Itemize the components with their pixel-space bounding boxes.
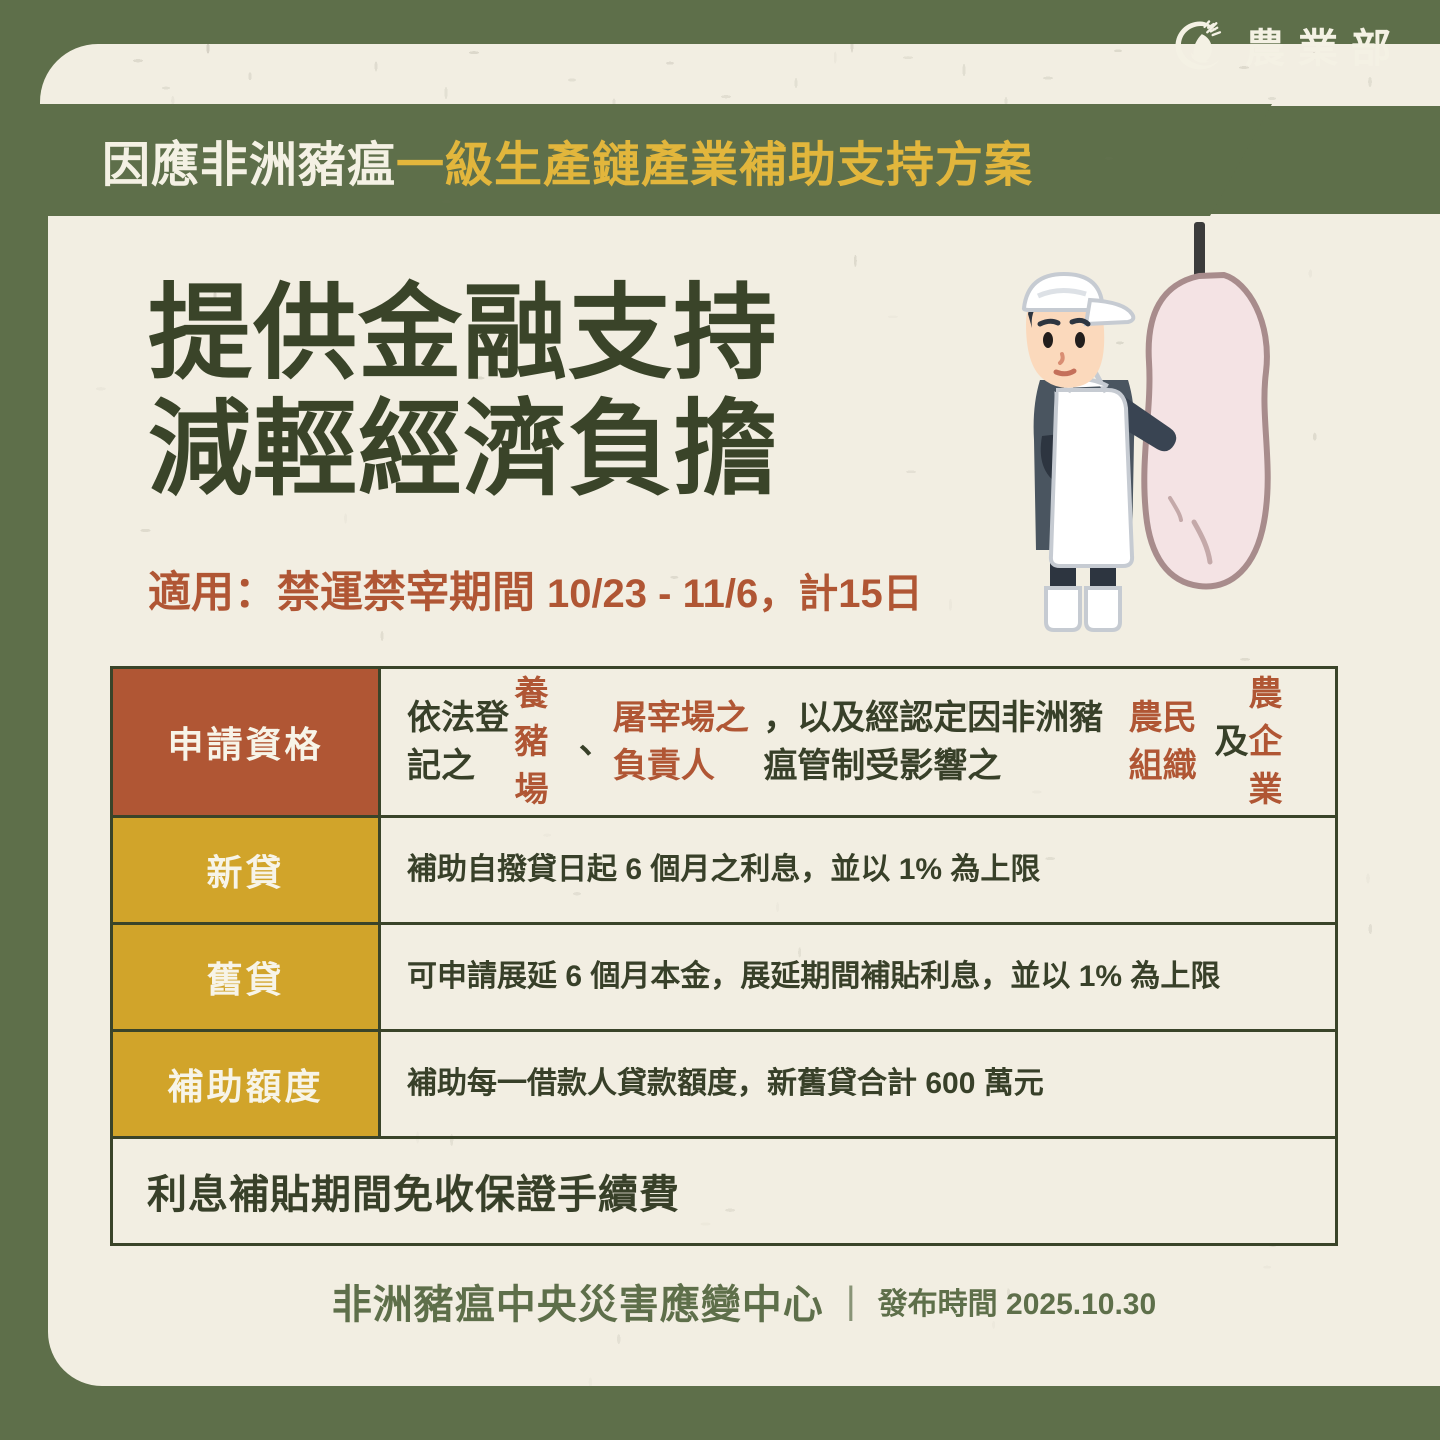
ministry-of-agriculture-leaf-emblem-icon bbox=[1171, 16, 1229, 74]
page-title: 提供金融支持 減輕經濟負擔 bbox=[148, 276, 778, 509]
row-label-existing-loan: 舊貸 bbox=[113, 925, 381, 1029]
footer-separator: | bbox=[846, 1280, 856, 1323]
banner-title: 因應非洲豬瘟一級生產鏈產業補助支持方案 bbox=[102, 125, 1033, 195]
segment: 依法登記之 bbox=[407, 694, 514, 791]
table-row: 新貸 補助自撥貸日起 6 個月之利息，並以 1% 為上限 bbox=[113, 818, 1335, 925]
release-date: 2025.10.30 bbox=[1006, 1288, 1156, 1321]
applicability-dates: 10/23 - 11/6，計15日 bbox=[547, 572, 923, 616]
release-time: 發布時間 2025.10.30 bbox=[878, 1279, 1157, 1323]
program-banner: 因應非洲豬瘟一級生產鏈產業補助支持方案 bbox=[0, 104, 1272, 216]
table-row: 舊貸 可申請展延 6 個月本金，展延期間補貼利息，並以 1% 為上限 bbox=[113, 925, 1335, 1032]
applicability-period: 適用：禁運禁宰期間 10/23 - 11/6，計15日 bbox=[148, 558, 923, 620]
segment-highlight: 農民組織 bbox=[1129, 694, 1215, 791]
footer: 非洲豬瘟中央災害應變中心 | 發布時間 2025.10.30 bbox=[48, 1272, 1440, 1330]
table-footnote-fee-waiver: 利息補貼期間免收保證手續費 bbox=[113, 1139, 680, 1243]
ministry-logo: 農業部 bbox=[1171, 16, 1404, 74]
issuing-organization: 非洲豬瘟中央災害應變中心 bbox=[332, 1272, 824, 1330]
segment-highlight: 屠宰場之負責人 bbox=[613, 694, 763, 791]
row-label-new-loan: 新貸 bbox=[113, 818, 381, 922]
ministry-name: 農業部 bbox=[1245, 16, 1404, 74]
segment-highlight: 農企業 bbox=[1249, 670, 1313, 815]
row-value-existing-loan: 可申請展延 6 個月本金，展延期間補貼利息，並以 1% 為上限 bbox=[381, 925, 1335, 1029]
row-label-subsidy-amount: 補助額度 bbox=[113, 1032, 381, 1136]
banner-title-prefix: 因應非洲豬瘟 bbox=[102, 139, 396, 192]
segment: 及 bbox=[1215, 718, 1249, 766]
segment-highlight: 養豬場 bbox=[514, 670, 578, 815]
row-value-new-loan: 補助自撥貸日起 6 個月之利息，並以 1% 為上限 bbox=[381, 818, 1335, 922]
subsidy-details-table: 申請資格 依法登記之養豬場、屠宰場之負責人，以及經認定因非洲豬瘟管制受影響之農民… bbox=[110, 666, 1338, 1246]
main-content-panel: 提供金融支持 減輕經濟負擔 適用：禁運禁宰期間 10/23 - 11/6，計15… bbox=[48, 214, 1440, 1386]
applicability-label: 適用：禁運禁宰期間 bbox=[148, 569, 535, 617]
row-label-eligibility: 申請資格 bbox=[113, 669, 381, 815]
segment: 、 bbox=[579, 718, 613, 766]
release-label: 發布時間 bbox=[878, 1288, 998, 1321]
row-value-subsidy-amount: 補助每一借款人貸款額度，新舊貸合計 600 萬元 bbox=[381, 1032, 1335, 1136]
illustration-svg bbox=[994, 222, 1362, 642]
banner-title-highlight: 一級生產鏈產業補助支持方案 bbox=[396, 139, 1033, 192]
row-value-eligibility: 依法登記之養豬場、屠宰場之負責人，以及經認定因非洲豬瘟管制受影響之農民組織及農企… bbox=[381, 669, 1335, 815]
headline-line-2: 減輕經濟負擔 bbox=[148, 392, 778, 508]
segment: ，以及經認定因非洲豬瘟管制受影響之 bbox=[763, 694, 1128, 791]
headline-line-1: 提供金融支持 bbox=[148, 276, 778, 392]
table-row: 申請資格 依法登記之養豬場、屠宰場之負責人，以及經認定因非洲豬瘟管制受影響之農民… bbox=[113, 669, 1335, 818]
butcher-with-hanging-pig-carcass-illustration bbox=[994, 222, 1362, 642]
table-row: 補助額度 補助每一借款人貸款額度，新舊貸合計 600 萬元 bbox=[113, 1032, 1335, 1139]
table-row: 利息補貼期間免收保證手續費 bbox=[113, 1139, 1335, 1243]
